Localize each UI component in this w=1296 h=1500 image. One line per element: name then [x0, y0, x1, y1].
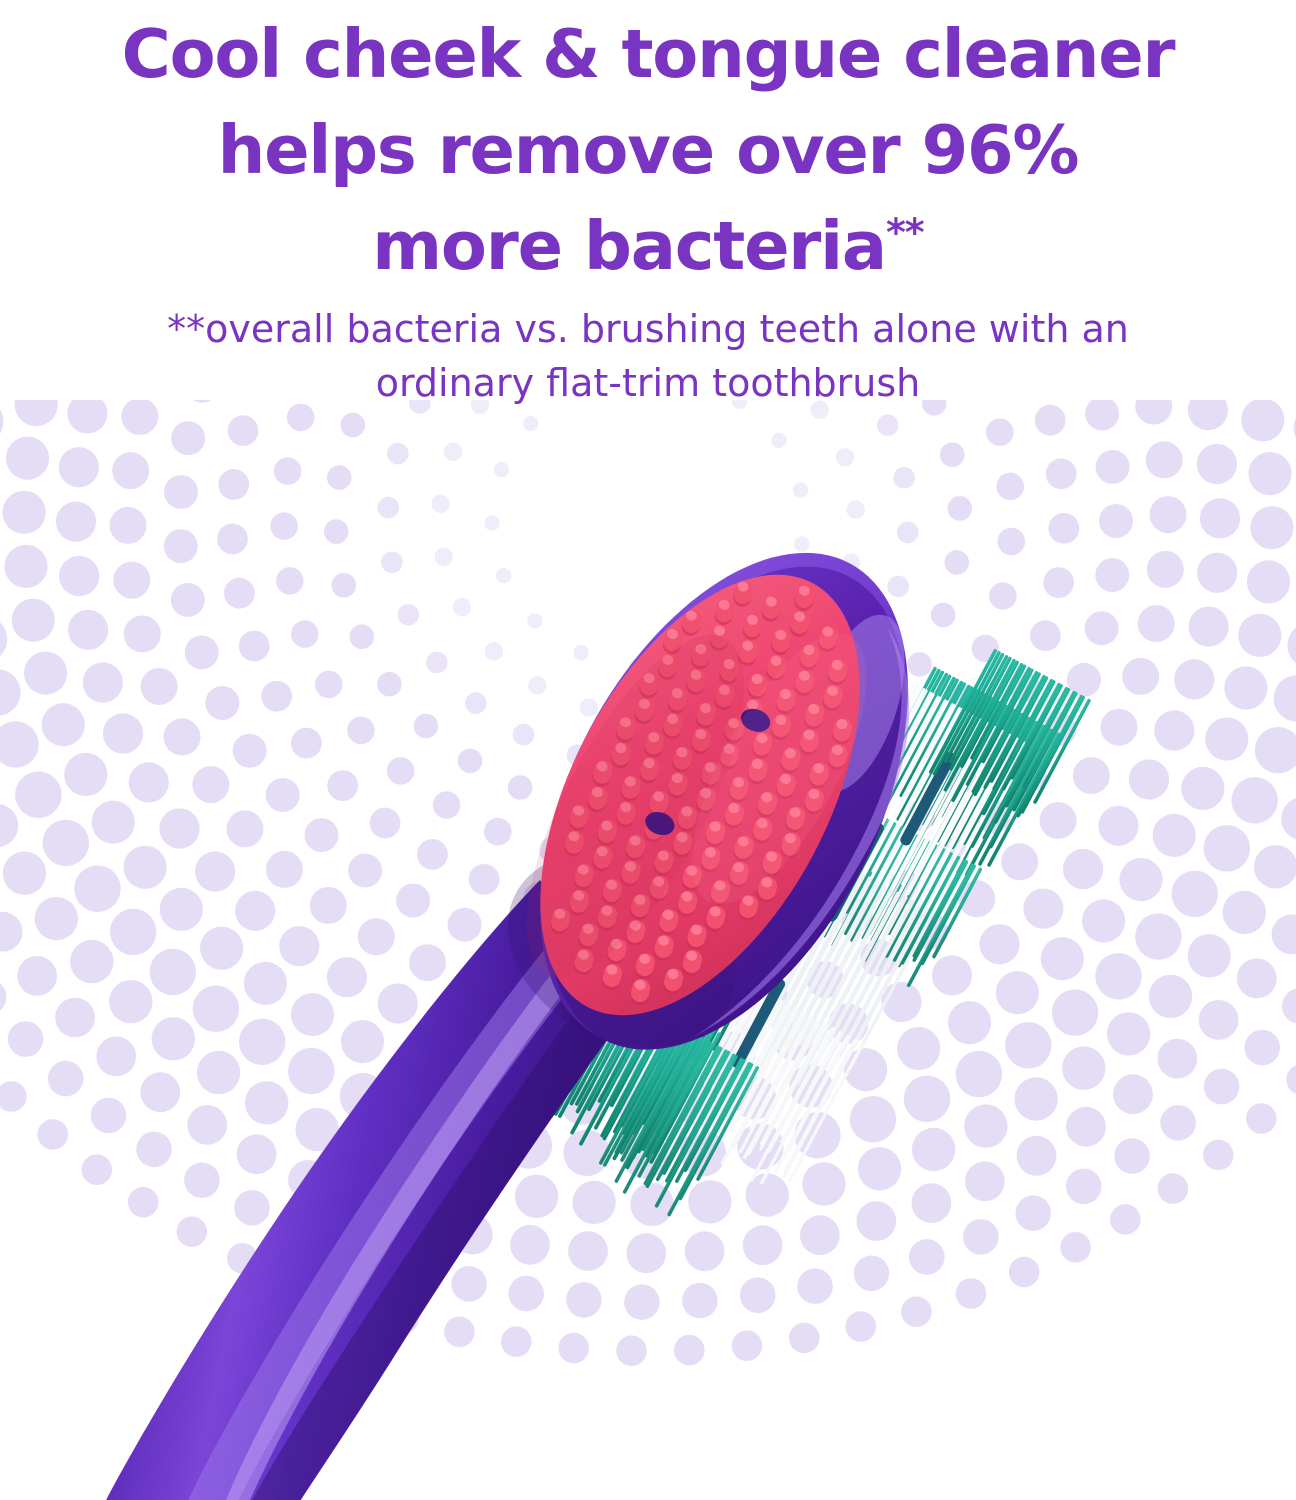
- footnote-line-2: ordinary flat-trim toothbrush: [0, 356, 1296, 410]
- headline-line-3-text: more bacteria: [372, 207, 886, 285]
- headline-line-3: more bacteria**: [0, 192, 1296, 288]
- headline-line-1: Cool cheek & tongue cleaner: [0, 0, 1296, 96]
- claim-text-block: Cool cheek & tongue cleaner helps remove…: [0, 0, 1296, 410]
- footnote: **overall bacteria vs. brushing teeth al…: [0, 288, 1296, 410]
- footnote-line-1: **overall bacteria vs. brushing teeth al…: [167, 307, 1129, 351]
- headline-footnote-marker: **: [886, 211, 924, 255]
- product-claim-image: Cool cheek & tongue cleaner helps remove…: [0, 0, 1296, 1500]
- headline-line-2: helps remove over 96%: [0, 96, 1296, 192]
